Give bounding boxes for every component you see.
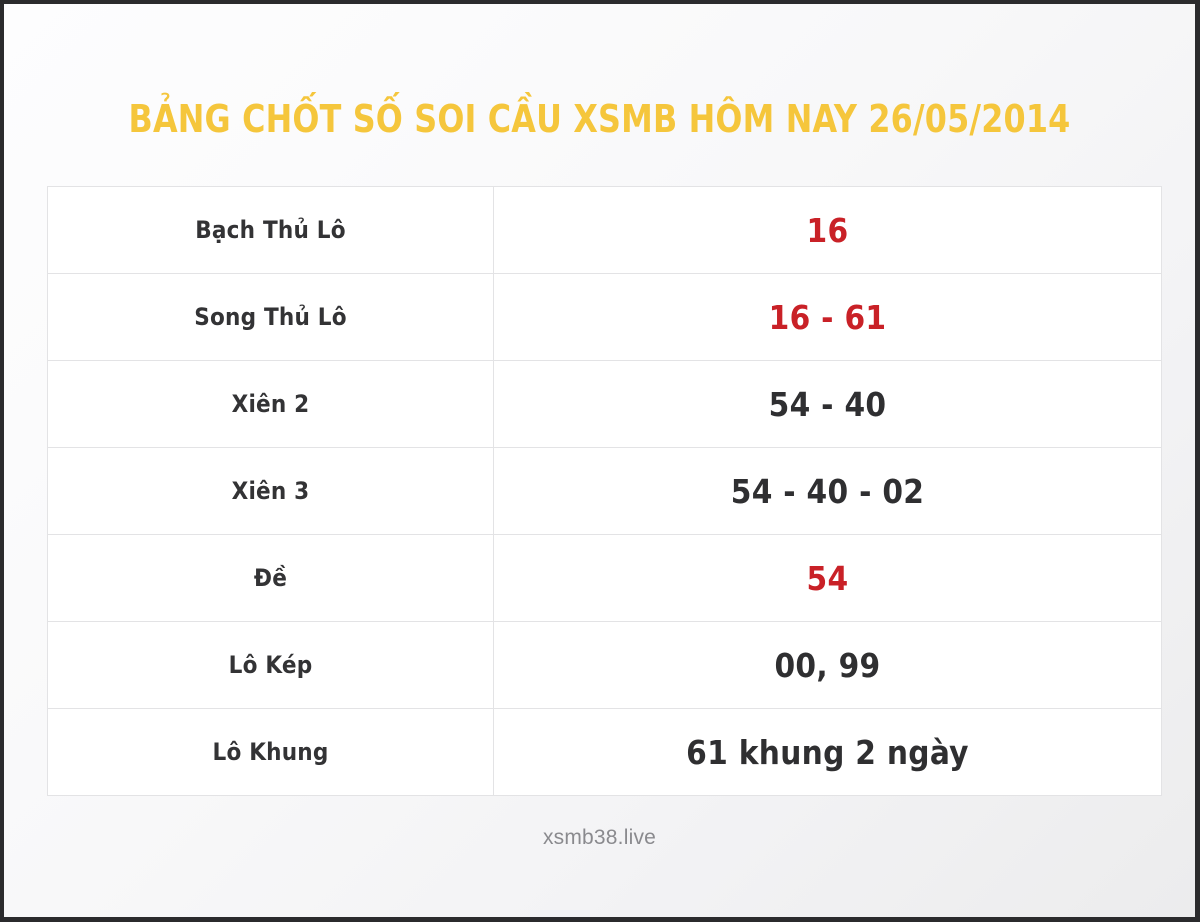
page-title: BẢNG CHỐT SỐ SOI CẦU XSMB HÔM NAY 26/05/… [46,96,1154,142]
row-value: 00, 99 [494,622,1162,709]
table-row: Xiên 354 - 40 - 02 [48,448,1162,535]
row-label: Bạch Thủ Lô [48,187,494,274]
table-row: Đề54 [48,535,1162,622]
row-label: Lô Khung [48,709,494,796]
table-row: Bạch Thủ Lô16 [48,187,1162,274]
soicau-table-body: Bạch Thủ Lô16Song Thủ Lô16 - 61Xiên 254 … [48,187,1162,796]
row-label: Song Thủ Lô [48,274,494,361]
row-value: 61 khung 2 ngày [494,709,1162,796]
table-row: Lô Kép00, 99 [48,622,1162,709]
table-row: Xiên 254 - 40 [48,361,1162,448]
row-label: Lô Kép [48,622,494,709]
row-label: Xiên 2 [48,361,494,448]
site-footer: xsmb38.live [4,826,1195,850]
app-frame: BẢNG CHỐT SỐ SOI CẦU XSMB HÔM NAY 26/05/… [0,0,1200,922]
row-value: 16 - 61 [494,274,1162,361]
row-value: 54 - 40 - 02 [494,448,1162,535]
row-value: 54 - 40 [494,361,1162,448]
row-label: Xiên 3 [48,448,494,535]
row-label: Đề [48,535,494,622]
table-row: Song Thủ Lô16 - 61 [48,274,1162,361]
row-value: 54 [494,535,1162,622]
soicau-table: Bạch Thủ Lô16Song Thủ Lô16 - 61Xiên 254 … [47,186,1162,796]
result-card: BẢNG CHỐT SỐ SOI CẦU XSMB HÔM NAY 26/05/… [4,4,1195,917]
table-row: Lô Khung61 khung 2 ngày [48,709,1162,796]
row-value: 16 [494,187,1162,274]
